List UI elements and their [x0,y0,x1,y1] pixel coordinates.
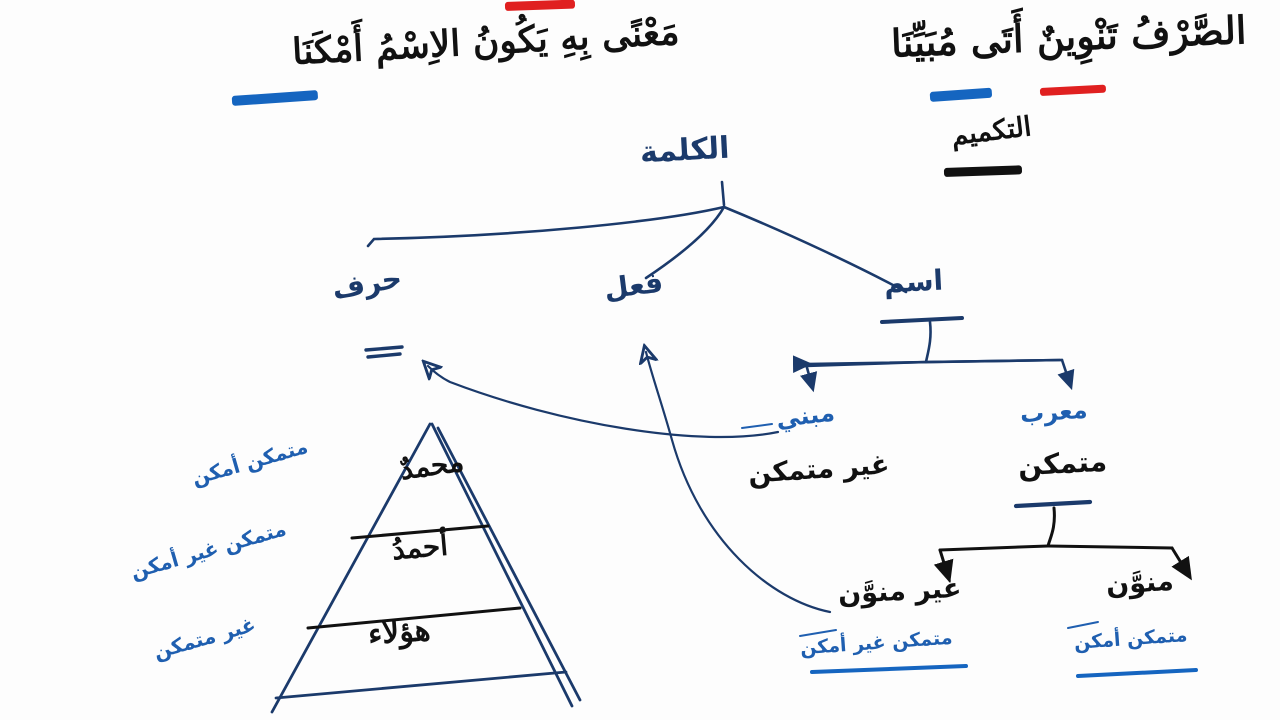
tree-node-ghayr-munawwan[interactable]: غير منوَّن [837,575,962,608]
tree-node-ism[interactable]: اسم [883,266,943,297]
pyramid-label-top: متمكن أمكن [190,436,310,488]
tree-sublabel-mutamakkin-ghayr-amkan: متمكن غير أمكن [800,629,954,659]
red-marker-stroke-tanwin [1040,85,1106,96]
red-marker-stroke-top [505,0,575,11]
pyramid-example-bottom: هؤلاء [367,616,431,650]
tree-node-mabni[interactable]: مبني [775,401,836,432]
black-marker-stroke-takmim [944,165,1022,177]
whiteboard-canvas: الصَّرْفُ تَنْوِينٌ أَتَى مُبَيِّنَا مَع… [0,0,1280,720]
tree-node-mutamakkin: متمكن [1017,448,1107,481]
verse-line-left-half: مَعْنًى بِهِ يَكُونُ الاِسْمُ أَمْكَنَا [292,14,681,70]
pyramid-label-middle: متمكن غير أمكن [128,518,288,582]
verse-line-right-half: الصَّرْفُ تَنْوِينٌ أَتَى مُبَيِّنَا [890,11,1247,63]
blue-marker-stroke-amkana [232,90,318,106]
pyramid-label-bottom: غير متمكن [151,614,257,662]
tree-node-ghayr-mutamakkin: غير متمكن [747,451,890,488]
blue-marker-stroke-ata [930,88,993,102]
pyramid-example-middle: أحمدُ [391,532,449,565]
tree-node-harf[interactable]: حرف [330,264,404,304]
diagram-strokes [0,0,1280,720]
tree-node-fiil[interactable]: فعل [603,269,665,304]
tree-node-root-kalima[interactable]: الكلمة [639,134,730,169]
takmim-annotation: التكميم [950,113,1033,150]
tree-node-murab[interactable]: معرب [1019,398,1088,427]
pyramid-example-top: محمدٌ [398,448,465,485]
tree-node-munawwan[interactable]: منوَّن [1105,568,1174,600]
tree-sublabel-mutamakkin-amkan: متمكن أمكن [1073,626,1188,653]
